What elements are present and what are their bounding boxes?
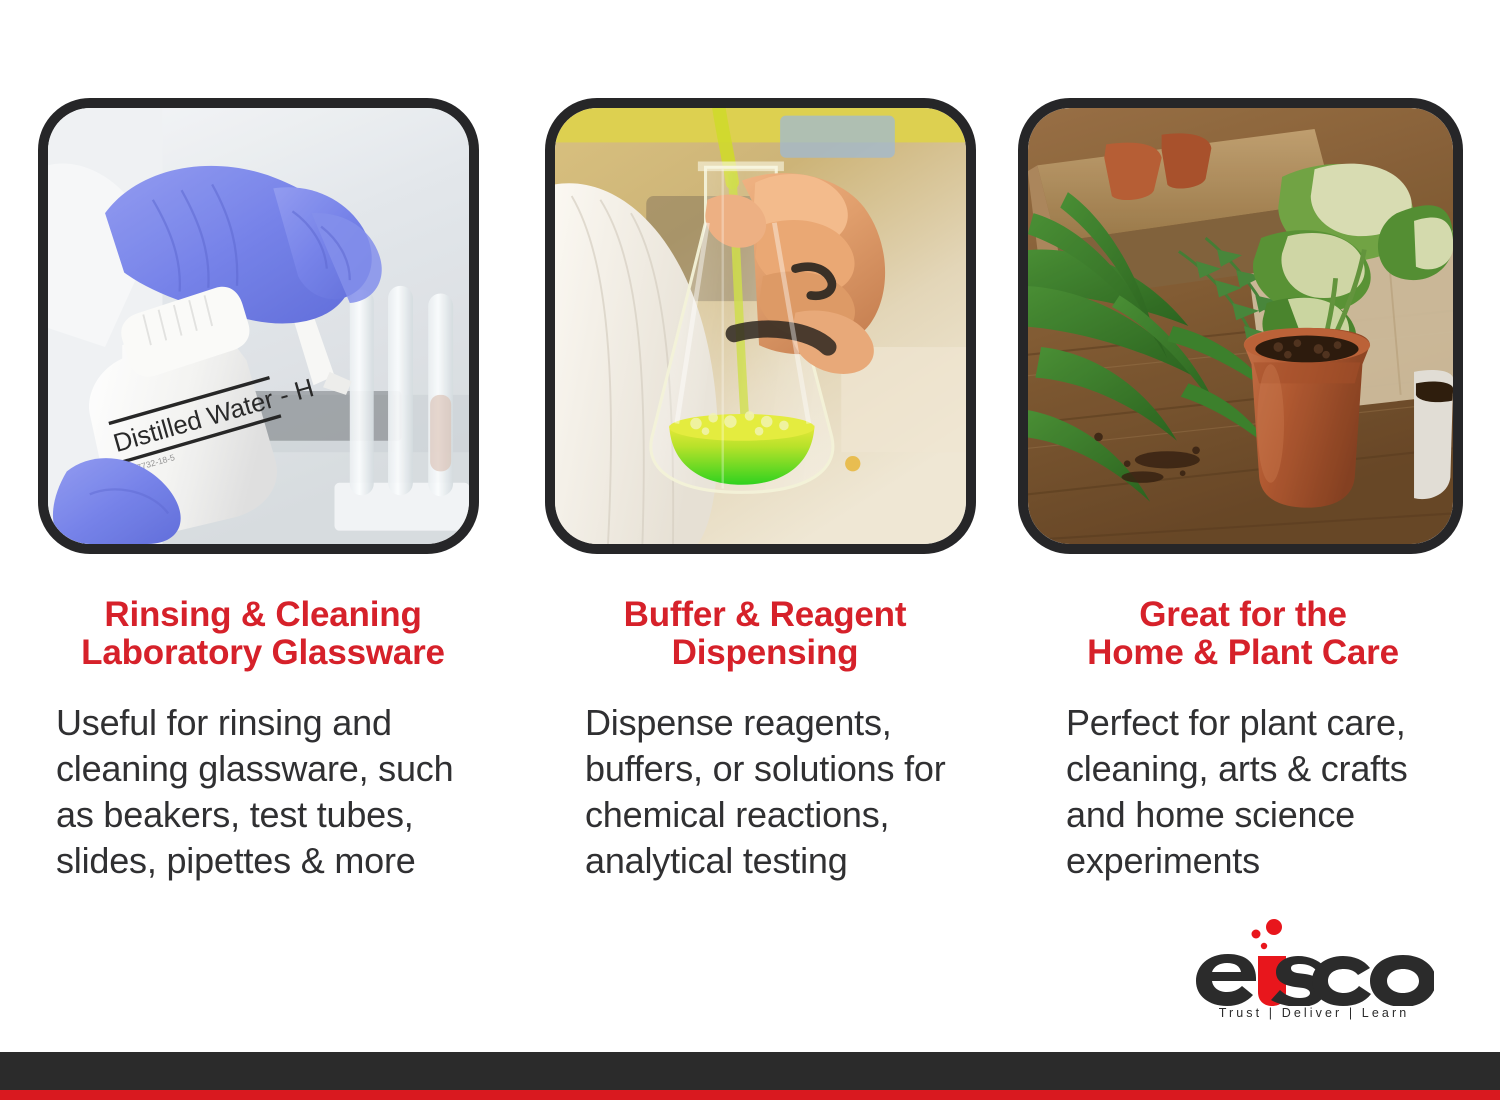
feature-column-1: Rinsing & Cleaning Laboratory Glassware … bbox=[38, 596, 488, 884]
footer-dark-bar bbox=[0, 1052, 1500, 1090]
feature-heading-3: Great for the Home & Plant Care bbox=[1018, 596, 1468, 672]
flask-pouring-photo bbox=[555, 108, 966, 544]
feature-column-2: Buffer & Reagent Dispensing Dispense rea… bbox=[545, 596, 985, 884]
logo-tagline: Trust | Deliver | Learn bbox=[1194, 1006, 1434, 1020]
image-card-1: Distilled Water - H CAS 7732-18-5 bbox=[38, 98, 479, 554]
wash-bottle-photo: Distilled Water - H CAS 7732-18-5 bbox=[48, 108, 469, 544]
image-card-2 bbox=[545, 98, 976, 554]
potted-plants-photo bbox=[1028, 108, 1453, 544]
feature-body-1: Useful for rinsing and cleaning glasswar… bbox=[38, 672, 488, 884]
feature-heading-1: Rinsing & Cleaning Laboratory Glassware bbox=[38, 596, 488, 672]
feature-body-3: Perfect for plant care, cleaning, arts &… bbox=[1018, 672, 1468, 884]
feature-column-3: Great for the Home & Plant Care Perfect … bbox=[1018, 596, 1468, 884]
feature-body-2: Dispense reagents, buffers, or solutions… bbox=[545, 672, 985, 884]
image-card-row: Distilled Water - H CAS 7732-18-5 bbox=[0, 98, 1500, 554]
image-card-3 bbox=[1018, 98, 1463, 554]
feature-heading-2: Buffer & Reagent Dispensing bbox=[545, 596, 985, 672]
footer-red-bar bbox=[0, 1090, 1500, 1100]
eisco-logo: Trust | Deliver | Learn bbox=[1194, 918, 1434, 1030]
eisco-wordmark-icon bbox=[1194, 918, 1434, 1006]
